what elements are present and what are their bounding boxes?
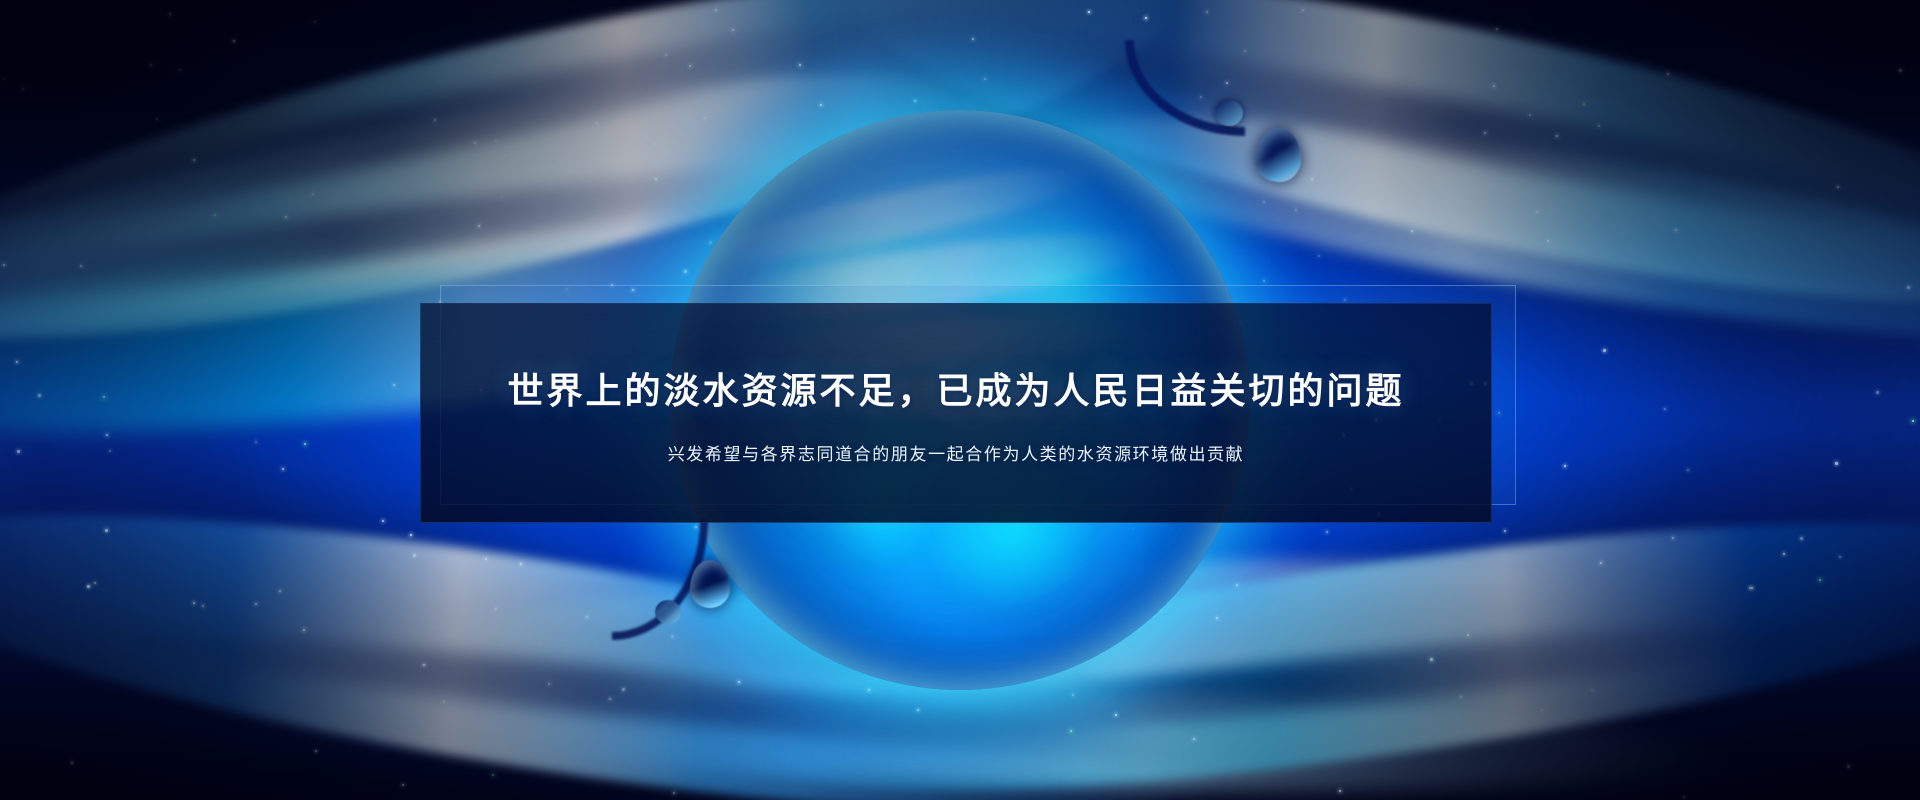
panel-content: 世界上的淡水资源不足，已成为人民日益关切的问题 兴发希望与各界志同道合的朋友一起… <box>420 303 1492 523</box>
hero-text-panel: 世界上的淡水资源不足，已成为人民日益关切的问题 兴发希望与各界志同道合的朋友一起… <box>420 285 1516 523</box>
hero-subtitle: 兴发希望与各界志同道合的朋友一起合作为人类的水资源环境做出贡献 <box>668 440 1245 465</box>
hero-headline: 世界上的淡水资源不足，已成为人民日益关切的问题 <box>507 362 1404 414</box>
hero-banner: 世界上的淡水资源不足，已成为人民日益关切的问题 兴发希望与各界志同道合的朋友一起… <box>0 0 1920 800</box>
